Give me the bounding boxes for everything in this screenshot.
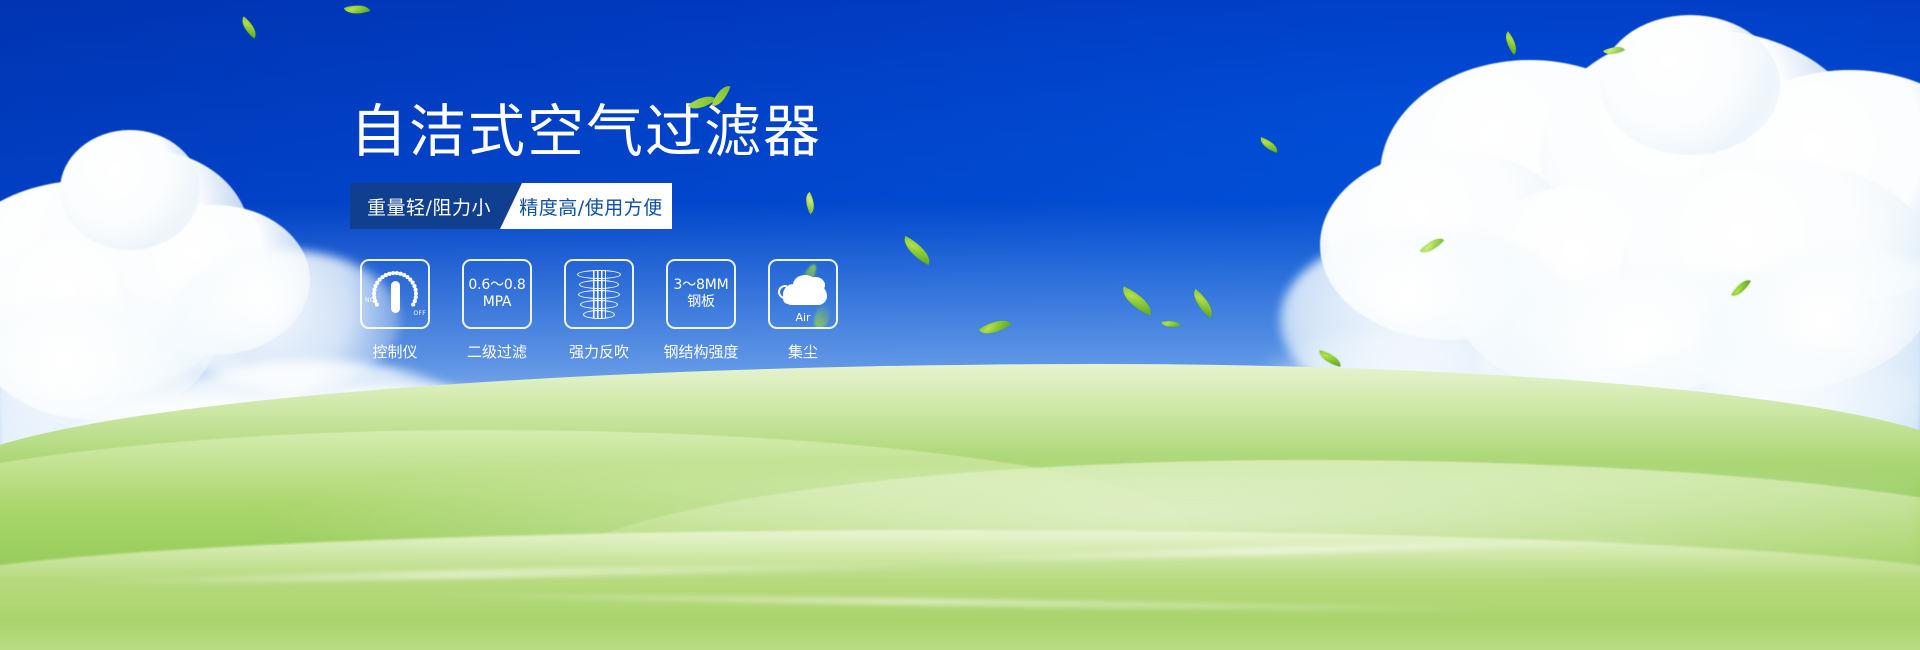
gauge-tick [412, 303, 415, 306]
gauge-tick [373, 288, 376, 291]
gauge-tick [372, 292, 375, 295]
tab-high-precision-easy-use[interactable]: 精度高/使用方便 [500, 183, 672, 229]
steel-thickness: 3～8MM [674, 277, 729, 295]
leaf-sprig-icon [687, 84, 747, 124]
gauge-dial-icon: NO OFF [367, 269, 423, 319]
feature-icon-box: NO OFF [360, 259, 430, 329]
feature-dust-collection[interactable]: Air 集尘 [764, 259, 842, 362]
feature-caption: 二级过滤 [458, 341, 536, 362]
air-label: Air [775, 311, 831, 324]
banner-content: 自洁式空气过滤器 重量轻/阻力小 精度高/使用方便 NO OFF [350, 104, 1050, 362]
feature-caption: 集尘 [764, 341, 842, 362]
pressure-unit: MPA [468, 294, 525, 312]
feature-icon-box: Air [768, 259, 838, 329]
gauge-label-no: NO [365, 297, 375, 304]
tagline-tabs: 重量轻/阻力小 精度高/使用方便 [350, 183, 672, 229]
feature-icon-box: 0.6～0.8 MPA [462, 259, 532, 329]
banner-hero: 自洁式空气过滤器 重量轻/阻力小 精度高/使用方便 NO OFF [0, 0, 1920, 650]
feature-icon-box [564, 259, 634, 329]
feature-caption: 钢结构强度 [662, 341, 740, 362]
feature-strong-backblow[interactable]: 强力反吹 [560, 259, 638, 362]
gauge-tick [374, 284, 377, 287]
feature-controller[interactable]: NO OFF 控制仪 [356, 259, 434, 362]
pressure-value: 0.6～0.8 [468, 277, 525, 295]
feature-icon-box: 3～8MM 钢板 [666, 259, 736, 329]
coil-spring-icon [576, 268, 622, 320]
tab-lightweight-low-resistance[interactable]: 重量轻/阻力小 [350, 183, 522, 229]
pressure-text-icon: 0.6～0.8 MPA [468, 277, 525, 312]
gauge-tick [376, 281, 379, 284]
grass-foreground [0, 530, 1920, 650]
feature-steel-structure-strength[interactable]: 3～8MM 钢板 钢结构强度 [662, 259, 740, 362]
steel-plate-text-icon: 3～8MM 钢板 [674, 277, 729, 312]
feature-list: NO OFF 控制仪 0.6～0.8 MPA 二级过滤 [350, 259, 1050, 362]
feature-caption: 强力反吹 [560, 341, 638, 362]
gauge-tick [378, 278, 381, 281]
air-cloud-icon: Air [775, 273, 831, 315]
gauge-label-off: OFF [413, 310, 426, 317]
feature-two-stage-filtration[interactable]: 0.6～0.8 MPA 二级过滤 [458, 259, 536, 362]
feature-caption: 控制仪 [356, 341, 434, 362]
steel-material: 钢板 [674, 294, 729, 312]
gauge-tick [375, 303, 378, 306]
